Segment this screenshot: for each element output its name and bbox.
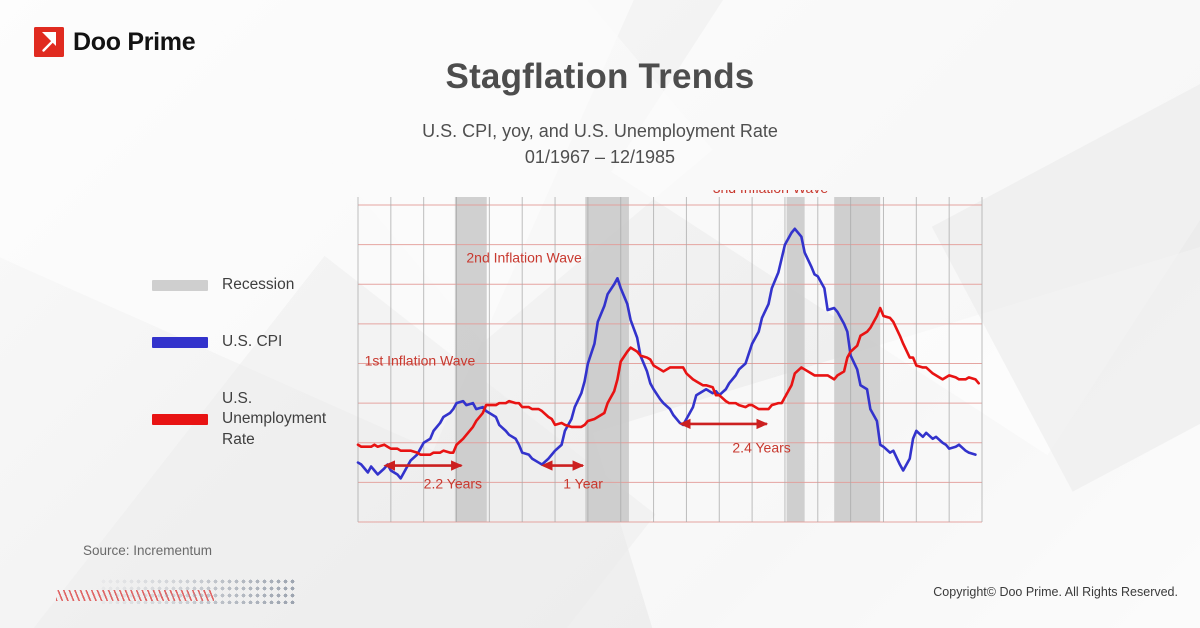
x-axis-tick-label: 1975	[622, 537, 653, 540]
legend-swatch-cpi	[152, 337, 208, 348]
stagflation-chart: 0%2%4%6%8%10%12%14%16%196719691971197319…	[348, 190, 996, 540]
recession-band	[834, 197, 880, 522]
x-axis-tick-label: 1985	[950, 537, 981, 540]
brand-logo[interactable]: Doo Prime	[34, 27, 195, 57]
subtitle-line-1: U.S. CPI, yoy, and U.S. Unemployment Rat…	[0, 118, 1200, 144]
x-axis-tick-label: 1977	[687, 537, 718, 540]
legend-label-cpi: U.S. CPI	[222, 332, 282, 352]
x-axis-tick-label: 1979	[753, 537, 784, 540]
x-axis-tick-label: 1973	[556, 537, 587, 540]
legend-swatch-unemployment	[152, 414, 208, 425]
x-axis-tick-label: 1981	[819, 537, 850, 540]
doo-prime-mark-icon	[34, 27, 64, 57]
source-note: Source: Incrementum	[83, 543, 212, 558]
chart-legend: Recession U.S. CPI U.S. Unemployment Rat…	[152, 275, 352, 450]
legend-item-unemployment: U.S. Unemployment Rate	[152, 389, 352, 449]
subtitle-line-2: 01/1967 – 12/1985	[0, 144, 1200, 170]
copyright-note: Copyright© Doo Prime. All Rights Reserve…	[933, 585, 1178, 599]
infographic-canvas: Doo Prime Stagflation Trends U.S. CPI, y…	[0, 0, 1200, 628]
chart-annotation: 2.4 Years	[732, 440, 790, 456]
chart-annotation: 1 Year	[563, 475, 603, 491]
x-axis-tick-label: 1983	[884, 537, 915, 540]
x-axis-tick-label: 1967	[359, 537, 390, 540]
page-subtitle: U.S. CPI, yoy, and U.S. Unemployment Rat…	[0, 118, 1200, 171]
chart-annotation: 2.2 Years	[424, 475, 482, 491]
chart-annotation: 2nd Inflation Wave	[466, 249, 582, 265]
legend-label-recession: Recession	[222, 275, 294, 295]
x-axis-tick-label: 1971	[490, 537, 521, 540]
legend-label-unemployment: U.S. Unemployment Rate	[222, 389, 334, 449]
brand-name: Doo Prime	[73, 28, 195, 57]
series-line-u-s-unemployment-rate	[358, 308, 979, 455]
chart-annotation: 3nd Inflation Wave	[713, 190, 829, 196]
legend-item-cpi: U.S. CPI	[152, 332, 352, 352]
decorative-pattern	[56, 578, 296, 606]
chart-annotation: 1st Inflation Wave	[365, 352, 476, 368]
legend-swatch-recession	[152, 280, 208, 291]
chart-svg: 0%2%4%6%8%10%12%14%16%196719691971197319…	[348, 190, 996, 540]
x-axis-tick-label: 1969	[425, 537, 456, 540]
decorative-dots	[100, 578, 296, 604]
page-title: Stagflation Trends	[0, 57, 1200, 97]
legend-item-recession: Recession	[152, 275, 352, 295]
